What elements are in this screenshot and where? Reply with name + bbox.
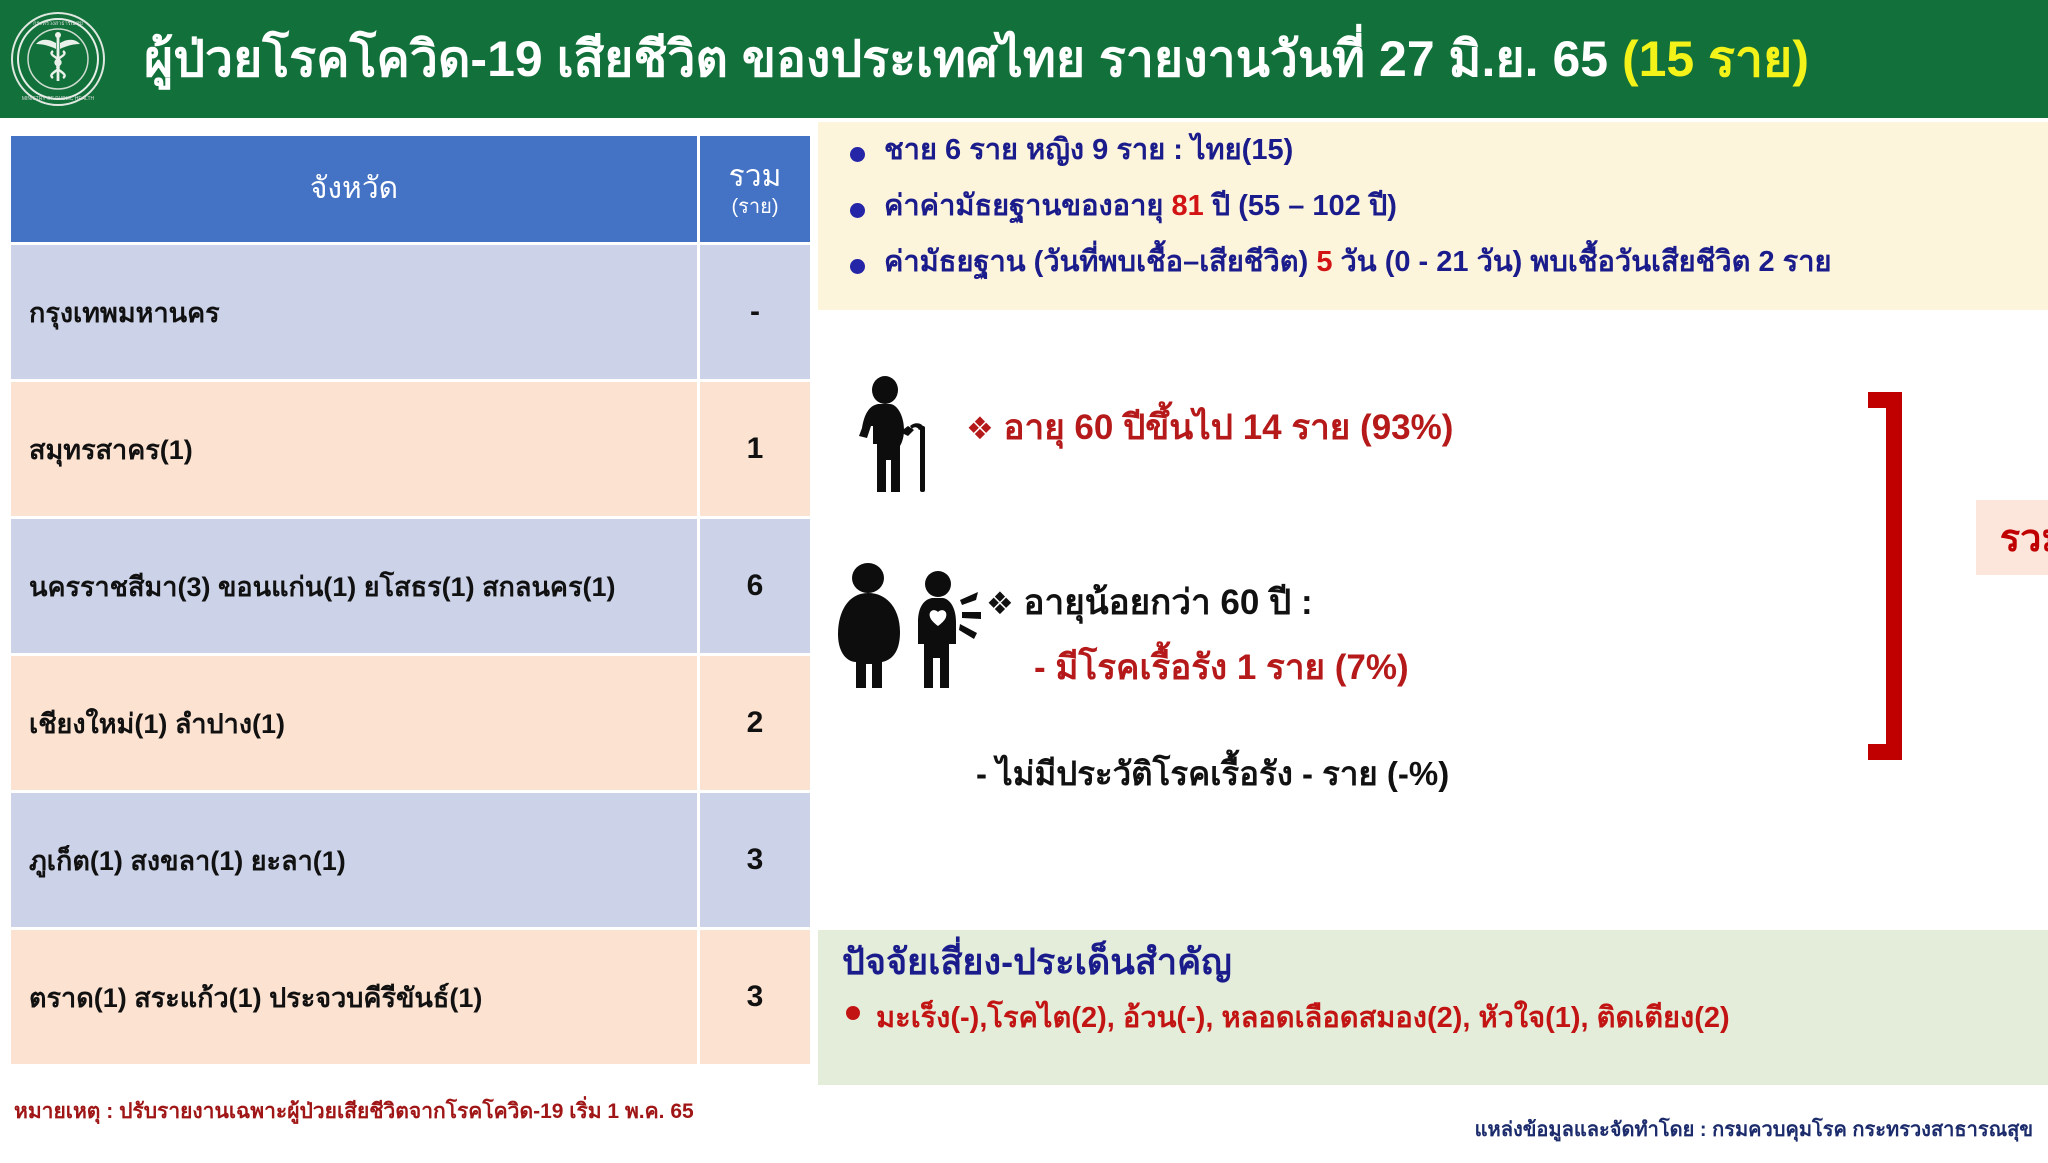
list-item: มะเร็ง(-),โรคไต(2), อ้วน(-), หลอดเลือดสม… bbox=[842, 994, 2048, 1040]
table-row: นครราชสีมา(3) ขอนแก่น(1) ยโสธร(1) สกลนคร… bbox=[11, 519, 810, 653]
cell-total: - bbox=[700, 245, 810, 379]
age-under-60-text: อายุน้อยกว่า 60 ปี : bbox=[1024, 583, 1313, 622]
elderly-person-with-cane-icon bbox=[838, 374, 958, 494]
table-row: เชียงใหม่(1) ลำปาง(1) 2 bbox=[11, 656, 810, 790]
table-row: ภูเก็ต(1) สงขลา(1) ยะลา(1) 3 bbox=[11, 793, 810, 927]
summary-text-pre: ชาย 6 ราย หญิง 9 ราย : ไทย(15) bbox=[884, 134, 1293, 166]
table-row: กรุงเทพมหานคร - bbox=[11, 245, 810, 379]
risk-factors-panel: ปัจจัยเสี่ยง-ประเด็นสำคัญ มะเร็ง(-),โรคไ… bbox=[818, 930, 2048, 1085]
summary-statistics-panel: ชาย 6 ราย หญิง 9 ราย : ไทย(15) ค่าค่ามัธ… bbox=[818, 122, 2048, 310]
total-percentage-badge: รวม 100% bbox=[1976, 500, 2048, 575]
table-header-row: จังหวัด รวม (ราย) bbox=[11, 136, 810, 242]
summary-text-post: วัน (0 - 21 วัน) พบเชื้อวันเสียชีวิต 2 ร… bbox=[1332, 246, 1831, 278]
svg-text:MINISTRY OF PUBLIC HEALTH: MINISTRY OF PUBLIC HEALTH bbox=[22, 96, 95, 102]
age-60-plus-stat: ❖ อายุ 60 ปีขึ้นไป 14 ราย (93%) bbox=[966, 400, 1453, 455]
column-header-province: จังหวัด bbox=[11, 136, 697, 242]
province-death-table: จังหวัด รวม (ราย) กรุงเทพมหานคร - สมุทรส… bbox=[8, 133, 813, 1067]
ministry-of-public-health-seal-icon: กระทรวงสาธารณสุข MINISTRY OF PUBLIC HEAL… bbox=[10, 11, 106, 107]
age-under-60-label: ❖ อายุน้อยกว่า 60 ปี : bbox=[986, 575, 1313, 630]
risk-factors-title: ปัจจัยเสี่ยง-ประเด็นสำคัญ bbox=[842, 942, 2048, 982]
summary-value-median-days: 5 bbox=[1316, 246, 1332, 278]
cell-total: 2 bbox=[700, 656, 810, 790]
page-title-case-count: (15 ราย) bbox=[1622, 31, 1809, 87]
diamond-bullet-icon: ❖ bbox=[966, 411, 994, 446]
summary-list: ชาย 6 ราย หญิง 9 ราย : ไทย(15) ค่าค่ามัธ… bbox=[840, 136, 2048, 277]
cell-province: สมุทรสาคร(1) bbox=[11, 382, 697, 516]
age-60-plus-text: อายุ 60 ปีขึ้นไป 14 ราย (93%) bbox=[1004, 408, 1454, 447]
list-item: ชาย 6 ราย หญิง 9 ราย : ไทย(15) bbox=[840, 136, 2048, 165]
cell-province: กรุงเทพมหานคร bbox=[11, 245, 697, 379]
data-source-credit: แหล่งข้อมูลและจัดทำโดย : กรมควบคุมโรค กร… bbox=[1163, 1113, 2033, 1145]
diamond-bullet-icon: ❖ bbox=[986, 586, 1014, 621]
chronic-disease-stat: - มีโรคเรื้อรัง 1 ราย (7%) bbox=[1034, 640, 1409, 695]
cell-total: 3 bbox=[700, 930, 810, 1064]
cell-province: ตราด(1) สระแก้ว(1) ประจวบคีรีขันธ์(1) bbox=[11, 930, 697, 1064]
cell-total: 3 bbox=[700, 793, 810, 927]
cell-province: นครราชสีมา(3) ขอนแก่น(1) ยโสธร(1) สกลนคร… bbox=[11, 519, 697, 653]
summary-value-median-age: 81 bbox=[1171, 190, 1203, 222]
summary-text-post: ปี (55 – 102 ปี) bbox=[1204, 190, 1397, 222]
page-title-main: ผู้ป่วยโรคโควิด-19 เสียชีวิต ของประเทศไท… bbox=[144, 31, 1608, 87]
page-header: กระทรวงสาธารณสุข MINISTRY OF PUBLIC HEAL… bbox=[0, 0, 2048, 118]
table-row: สมุทรสาคร(1) 1 bbox=[11, 382, 810, 516]
province-table-container: จังหวัด รวม (ราย) กรุงเทพมหานคร - สมุทรส… bbox=[8, 133, 808, 1067]
obese-person-and-heart-patient-icon bbox=[828, 560, 988, 690]
list-item: ค่ามัธยฐาน (วันที่พบเชื้อ–เสียชีวิต) 5 ว… bbox=[840, 248, 2048, 277]
list-item: ค่าค่ามัธยฐานของอายุ 81 ปี (55 – 102 ปี) bbox=[840, 192, 2048, 221]
cell-province: ภูเก็ต(1) สงขลา(1) ยะลา(1) bbox=[11, 793, 697, 927]
summary-text-pre: ค่าค่ามัธยฐานของอายุ bbox=[884, 190, 1171, 222]
cell-total: 6 bbox=[700, 519, 810, 653]
grouping-bracket bbox=[1868, 392, 1902, 760]
table-footnote: หมายเหตุ : ปรับรายงานเฉพาะผู้ป่วยเสียชีว… bbox=[14, 1095, 694, 1128]
column-header-total: รวม (ราย) bbox=[700, 136, 810, 242]
cell-total: 1 bbox=[700, 382, 810, 516]
svg-text:กระทรวงสาธารณสุข: กระทรวงสาธารณสุข bbox=[33, 20, 83, 27]
column-header-total-label: รวม bbox=[729, 160, 782, 193]
no-chronic-disease-stat: - ไม่มีประวัติโรคเรื้อรัง - ราย (-%) bbox=[976, 747, 1449, 800]
table-row: ตราด(1) สระแก้ว(1) ประจวบคีรีขันธ์(1) 3 bbox=[11, 930, 810, 1064]
cell-province: เชียงใหม่(1) ลำปาง(1) bbox=[11, 656, 697, 790]
age-breakdown-panel: ❖ อายุ 60 ปีขึ้นไป 14 ราย (93%) ❖ อายุน้… bbox=[818, 320, 2048, 920]
page-title: ผู้ป่วยโรคโควิด-19 เสียชีวิต ของประเทศไท… bbox=[144, 34, 1809, 84]
summary-text-pre: ค่ามัธยฐาน (วันที่พบเชื้อ–เสียชีวิต) bbox=[884, 246, 1316, 278]
column-header-total-unit: (ราย) bbox=[718, 195, 792, 219]
